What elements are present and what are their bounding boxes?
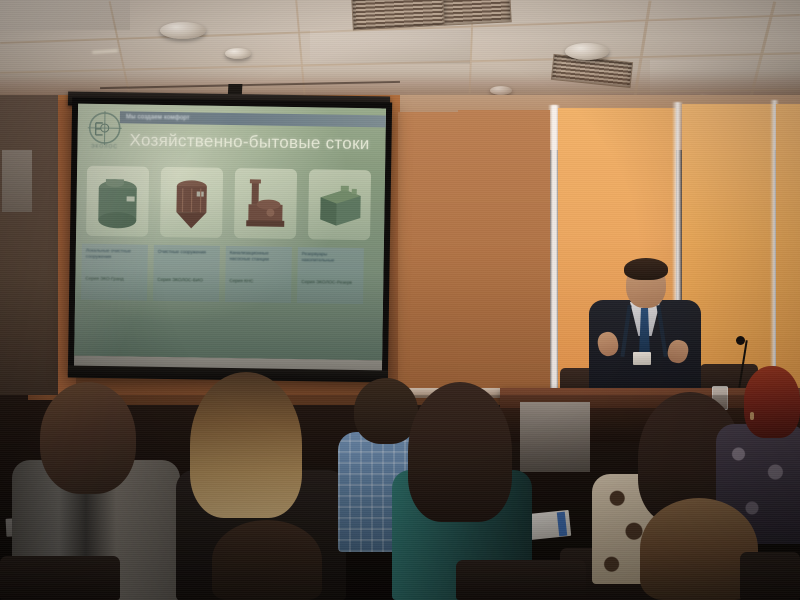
ceiling-light (92, 49, 118, 54)
attendee-head (190, 372, 302, 518)
caption-title: Резервуары накопительные (301, 251, 359, 274)
wall-sign (2, 150, 32, 212)
treatment-station-icon (166, 173, 217, 232)
product-caption-card: Локальные очистные сооружения Серия ЭКО-… (81, 244, 148, 301)
caption-title: Очистные сооружения (157, 249, 215, 272)
septic-tank-icon (92, 172, 143, 231)
attendee-head (408, 382, 512, 522)
seat-back (456, 560, 586, 600)
caption-title: Канализационные насосные станции (229, 250, 287, 273)
hvac-vent (442, 0, 511, 26)
smoke-detector-icon (225, 48, 251, 59)
presenter-hair (624, 258, 668, 280)
product-card (308, 169, 371, 240)
smoke-detector-icon (565, 43, 609, 60)
caption-title: Локальные очистные сооружения (85, 248, 143, 271)
caption-series: Серия ЭКО-Гранд (85, 276, 143, 295)
smoke-detector-icon (160, 22, 206, 39)
presentation-slide: ЭКОЛОС Мы создаем комфорт Хозяйственно-б… (74, 104, 386, 361)
slide-tagline: Мы создаем комфорт (126, 112, 236, 124)
screen-surface: ЭКОЛОС Мы создаем комфорт Хозяйственно-б… (74, 104, 386, 361)
attendee-head (212, 520, 322, 600)
attendee-head (744, 366, 800, 438)
product-caption-card: Канализационные насосные станции Серия К… (225, 246, 292, 303)
caption-series: Серия ЭКОЛОС-БИО (157, 277, 215, 296)
window-blind-left-2 (458, 110, 550, 392)
product-card (160, 167, 223, 238)
caption-series: Серия ЭКОЛОС-Резерв (301, 279, 359, 298)
product-caption-card: Резервуары накопительные Серия ЭКОЛОС-Ре… (297, 247, 364, 304)
left-wall (0, 95, 58, 395)
window-blind-far-right (776, 104, 800, 392)
product-card (86, 166, 149, 237)
seat-back (740, 552, 800, 600)
horizontal-tank-icon (314, 175, 365, 234)
product-card (234, 168, 297, 239)
company-logo-wordmark: ЭКОЛОС (85, 144, 123, 153)
caption-series: Серия КНС (229, 278, 287, 297)
seat-back (0, 556, 120, 600)
product-caption-card: Очистные сооружения Серия ЭКОЛОС-БИО (153, 245, 220, 302)
pump-station-icon (240, 174, 291, 233)
earring-icon (750, 412, 754, 420)
conference-room-photo: ЭКОЛОС Мы создаем комфорт Хозяйственно-б… (0, 0, 800, 600)
slide-title: Хозяйственно-бытовые стоки (129, 130, 379, 154)
attendee-head (354, 378, 418, 444)
conference-badge (633, 352, 651, 365)
window-blind-left (398, 112, 460, 390)
attendee-head (40, 382, 136, 494)
projection-screen: ЭКОЛОС Мы создаем комфорт Хозяйственно-б… (68, 98, 392, 381)
microphone-icon (736, 336, 745, 345)
hvac-vent (351, 0, 447, 30)
